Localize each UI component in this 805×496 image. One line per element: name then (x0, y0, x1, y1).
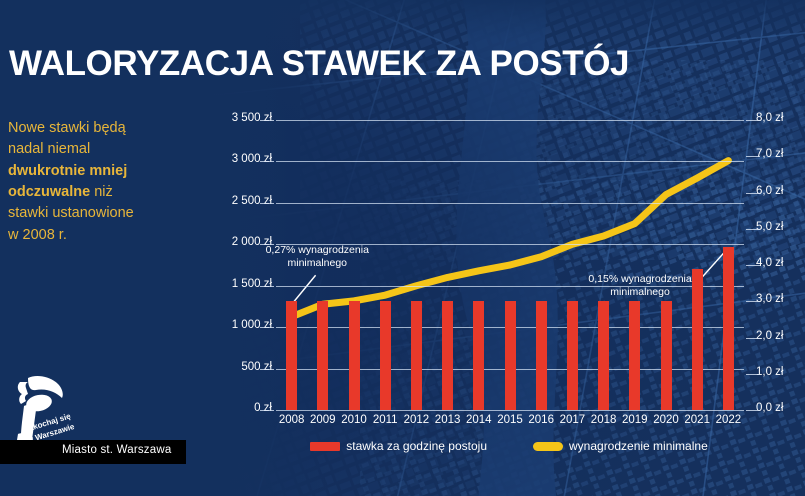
y-axis-left-tick: 500 zł (202, 361, 272, 373)
y-axis-right-tick-mark (746, 338, 760, 339)
gridline (276, 161, 744, 162)
y-axis-right-tick: 8,0 zł (756, 112, 805, 124)
y-axis-right-tick: 1,0 zł (756, 366, 805, 378)
bar-2009 (317, 301, 328, 410)
gridline (276, 203, 744, 204)
y-axis-left-tick-mark (260, 120, 274, 121)
chart: 0 zł500 zł1 000 zł1 500 zł2 000 zł2 500 … (216, 112, 802, 412)
bar-2010 (349, 301, 360, 410)
y-axis-right-tick: 2,0 zł (756, 330, 805, 342)
gridline (276, 410, 744, 411)
bar-2018 (598, 301, 609, 410)
y-axis-right-tick-mark (746, 301, 760, 302)
chart-legend: stawka za godzinę postoju wynagrodzenie … (216, 436, 802, 456)
bar-2014 (473, 301, 484, 410)
bar-2017 (567, 301, 578, 410)
bar-2012 (411, 301, 422, 410)
bar-2021 (692, 269, 703, 410)
gridline (276, 120, 744, 121)
y-axis-right-tick: 6,0 zł (756, 185, 805, 197)
callout-bold-2: odczuwalne (8, 184, 90, 200)
callout-line-6: w 2008 r. (8, 227, 67, 243)
annotation-2008-line-1: 0,27% wynagrodzenia (266, 244, 369, 256)
bar-2022 (723, 247, 734, 410)
annotation-2008-leader (293, 275, 316, 303)
annotation-2022-line-1: 0,15% wynagrodzenia (588, 273, 691, 285)
bar-2016 (536, 301, 547, 410)
y-axis-right-tick-mark (746, 156, 760, 157)
y-axis-left-tick: 2 500 zł (202, 195, 272, 207)
y-axis-right-tick: 0,0 zł (756, 402, 805, 414)
x-axis-label-2022: 2022 (708, 414, 748, 426)
legend-item-rate: stawka za godzinę postoju (310, 439, 487, 453)
legend-label-rate: stawka za godzinę postoju (346, 439, 487, 453)
callout-line-5: stawki ustanowione (8, 205, 134, 221)
warsaw-mermaid-logo: zakochaj się w Warszawie (6, 370, 86, 448)
y-axis-left-tick-mark (260, 286, 274, 287)
callout-line-1: Nowe stawki będą (8, 120, 126, 136)
y-axis-right-tick-mark (746, 193, 760, 194)
page-title: WALORYZACJA STAWEK ZA POSTÓJ (9, 44, 629, 84)
annotation-2022: 0,15% wynagrodzenia minimalnego (588, 273, 691, 299)
y-axis-right-tick: 3,0 zł (756, 293, 805, 305)
y-axis-left-tick-mark (260, 410, 274, 411)
y-axis-right-tick-mark (746, 229, 760, 230)
y-axis-right-tick: 4,0 zł (756, 257, 805, 269)
sidebar-callout: Nowe stawki będą nadal niemal dwukrotnie… (8, 118, 198, 246)
y-axis-left-tick: 0 zł (202, 402, 272, 414)
bar-2019 (629, 301, 640, 410)
y-axis-left-tick-mark (260, 161, 274, 162)
y-axis-right-tick-mark (746, 120, 760, 121)
legend-item-wage: wynagrodzenie minimalne (533, 439, 708, 453)
annotation-2008-line-2: minimalnego (287, 257, 347, 269)
y-axis-right-tick-mark (746, 265, 760, 266)
logo-caption-bar: Miasto st. Warszawa (0, 440, 186, 464)
bar-2013 (442, 301, 453, 410)
y-axis-left-tick: 2 000 zł (202, 236, 272, 248)
bar-2020 (661, 301, 672, 410)
y-axis-left-tick: 3 000 zł (202, 153, 272, 165)
y-axis-right-tick-mark (746, 374, 760, 375)
y-axis-left-tick: 3 500 zł (202, 112, 272, 124)
y-axis-left-tick-mark (260, 203, 274, 204)
callout-bold-1: dwukrotnie mniej (8, 163, 127, 179)
y-axis-right-tick-mark (746, 410, 760, 411)
legend-swatch-bar-icon (310, 442, 340, 451)
y-axis-left-tick: 1 000 zł (202, 319, 272, 331)
y-axis-left-tick: 1 500 zł (202, 278, 272, 290)
annotation-2022-line-2: minimalnego (610, 286, 670, 298)
annotation-2008: 0,27% wynagrodzenia minimalnego (266, 244, 369, 270)
logo-caption: Miasto st. Warszawa (62, 444, 171, 456)
callout-after-bold: niż (90, 184, 113, 200)
bar-2011 (380, 301, 391, 410)
bar-2008 (286, 301, 297, 410)
legend-swatch-line-icon (533, 442, 563, 451)
y-axis-right-tick: 5,0 zł (756, 221, 805, 233)
bar-2015 (505, 301, 516, 410)
legend-label-wage: wynagrodzenie minimalne (569, 439, 708, 453)
callout-line-2: nadal niemal (8, 141, 90, 157)
y-axis-left-tick-mark (260, 327, 274, 328)
y-axis-right-tick: 7,0 zł (756, 148, 805, 160)
infographic-root: WALORYZACJA STAWEK ZA POSTÓJ Nowe stawki… (0, 0, 805, 496)
y-axis-left-tick-mark (260, 369, 274, 370)
